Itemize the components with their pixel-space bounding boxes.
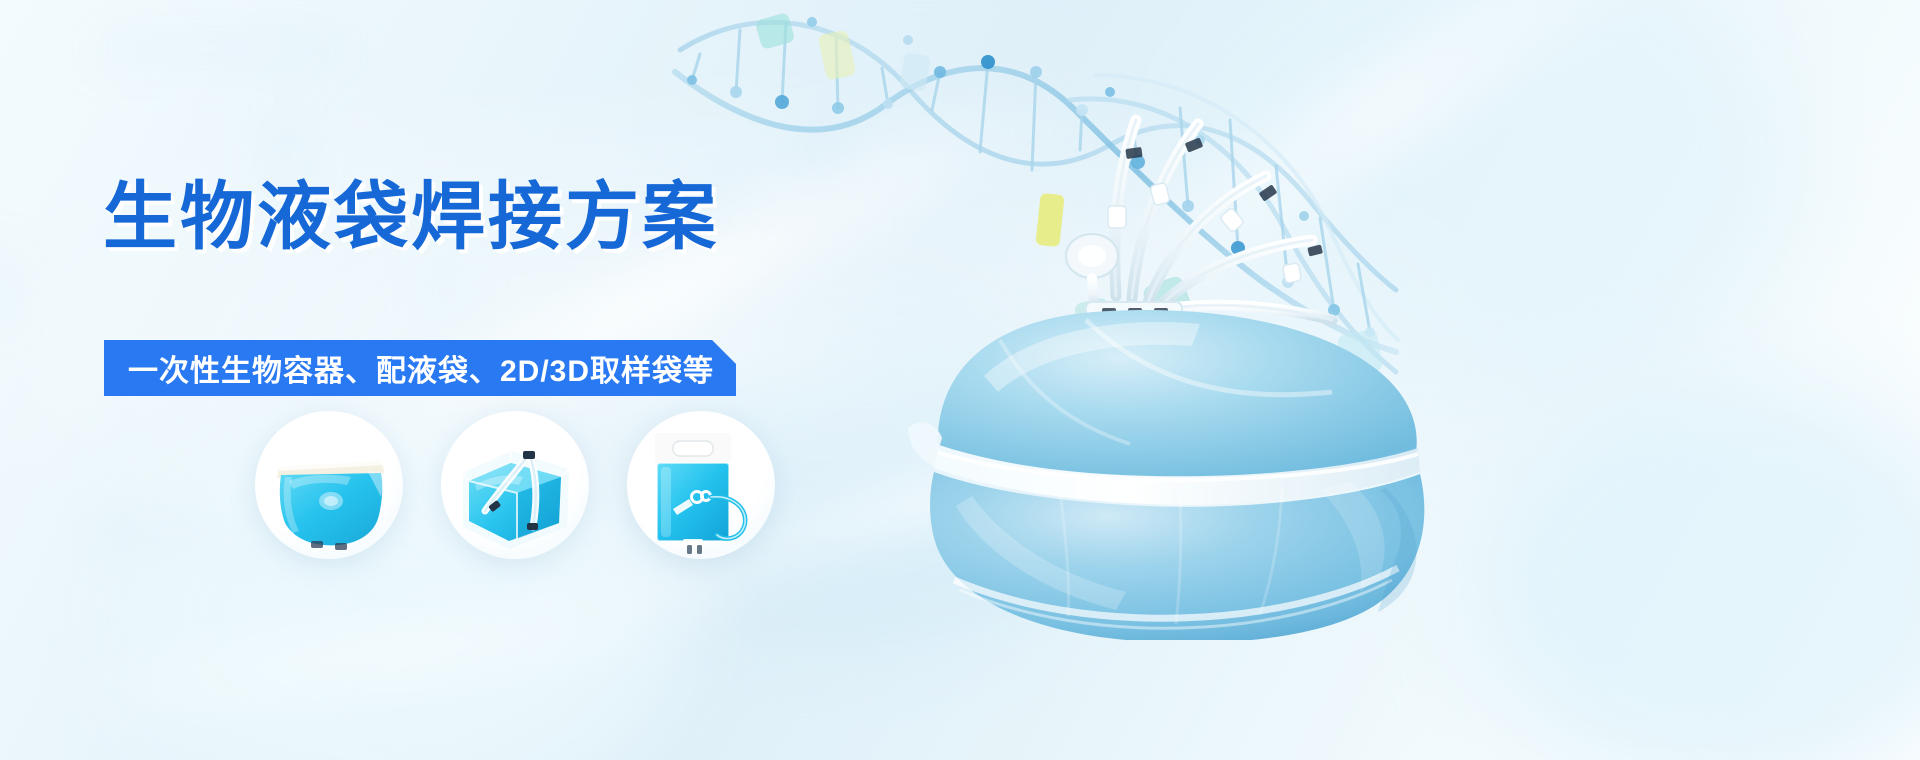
page-title: 生物液袋焊接方案	[103, 176, 719, 259]
hero-banner: 生物液袋焊接方案 一次性生物容器、配液袋、2D/3D取样袋等	[0, 0, 1920, 760]
thumbnail-sampling-bag[interactable]	[627, 411, 775, 559]
thumbnail-2d-pillow-bag[interactable]	[255, 411, 403, 559]
light-streak	[59, 572, 761, 729]
subtitle-text: 一次性生物容器、配液袋、2D/3D取样袋等	[128, 346, 714, 390]
product-thumbnail-row	[255, 385, 875, 585]
hero-bioreactor-bag	[880, 20, 1640, 640]
thumbnail-3d-cube-bag[interactable]	[441, 411, 589, 559]
